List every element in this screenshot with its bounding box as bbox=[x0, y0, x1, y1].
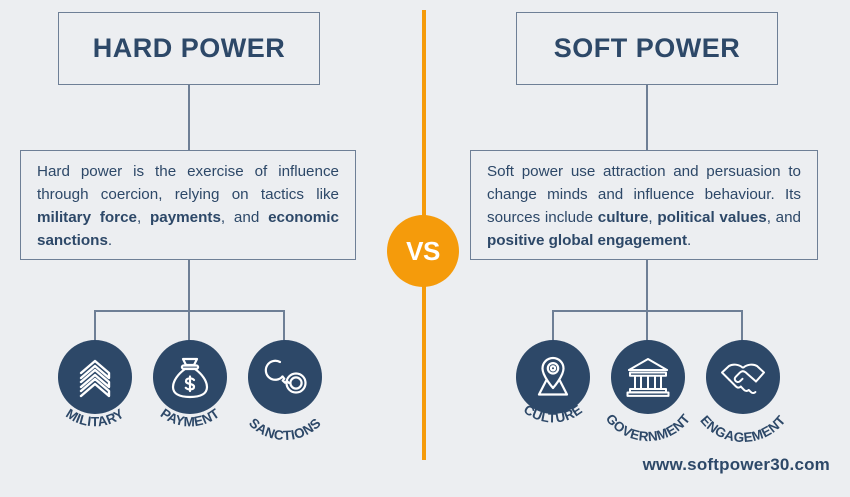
connector-title-to-desc-left bbox=[188, 85, 190, 150]
handcuffs-icon bbox=[262, 357, 308, 397]
description-box-hard-power: Hard power is the exercise of influence … bbox=[20, 150, 356, 260]
description-box-soft-power: Soft power use attraction and persuasion… bbox=[470, 150, 818, 260]
branch-drop-right-2 bbox=[646, 310, 648, 342]
icon-node-engagement[interactable]: ENGAGEMENT bbox=[683, 340, 803, 450]
icon-circle-sanctions bbox=[248, 340, 322, 414]
icon-circle-payment bbox=[153, 340, 227, 414]
title-box-soft-power: SOFT POWER bbox=[516, 12, 778, 85]
icon-circle-military bbox=[58, 340, 132, 414]
svg-text:GOVERNMENT: GOVERNMENT bbox=[603, 411, 694, 444]
handshake-icon bbox=[720, 359, 766, 395]
infographic-canvas: HARD POWER Hard power is the exercise of… bbox=[0, 0, 850, 497]
connector-desc-to-branch-left bbox=[188, 260, 190, 310]
svg-text:ENGAGEMENT: ENGAGEMENT bbox=[697, 412, 788, 445]
branch-drop-right-1 bbox=[552, 310, 554, 342]
svg-text:SANCTIONS: SANCTIONS bbox=[246, 415, 324, 443]
branch-drop-left-1 bbox=[94, 310, 96, 342]
branch-drop-left-3 bbox=[283, 310, 285, 342]
branch-drop-right-3 bbox=[741, 310, 743, 342]
description-text-soft-power: Soft power use attraction and persuasion… bbox=[487, 160, 801, 252]
icon-label-engagement: ENGAGEMENT bbox=[697, 412, 788, 445]
description-text-hard-power: Hard power is the exercise of influence … bbox=[37, 160, 339, 252]
footer-website-url[interactable]: www.softpower30.com bbox=[643, 455, 830, 475]
icon-node-sanctions[interactable]: SANCTIONS bbox=[225, 340, 345, 450]
icon-label-government: GOVERNMENT bbox=[603, 411, 694, 444]
title-box-hard-power: HARD POWER bbox=[58, 12, 320, 85]
map-pin-icon bbox=[531, 356, 575, 398]
title-soft-power: SOFT POWER bbox=[554, 33, 741, 64]
money-bag-icon bbox=[169, 355, 211, 399]
classical-building-icon bbox=[625, 356, 671, 398]
vs-label: VS bbox=[406, 236, 440, 267]
icon-circle-engagement bbox=[706, 340, 780, 414]
connector-title-to-desc-right bbox=[646, 85, 648, 150]
icon-label-sanctions: SANCTIONS bbox=[246, 415, 324, 443]
vs-badge: VS bbox=[387, 215, 459, 287]
title-hard-power: HARD POWER bbox=[93, 33, 286, 64]
branch-drop-left-2 bbox=[188, 310, 190, 342]
icon-circle-government bbox=[611, 340, 685, 414]
connector-desc-to-branch-right bbox=[646, 260, 648, 310]
icon-circle-culture bbox=[516, 340, 590, 414]
chevrons-up-icon bbox=[73, 355, 117, 399]
